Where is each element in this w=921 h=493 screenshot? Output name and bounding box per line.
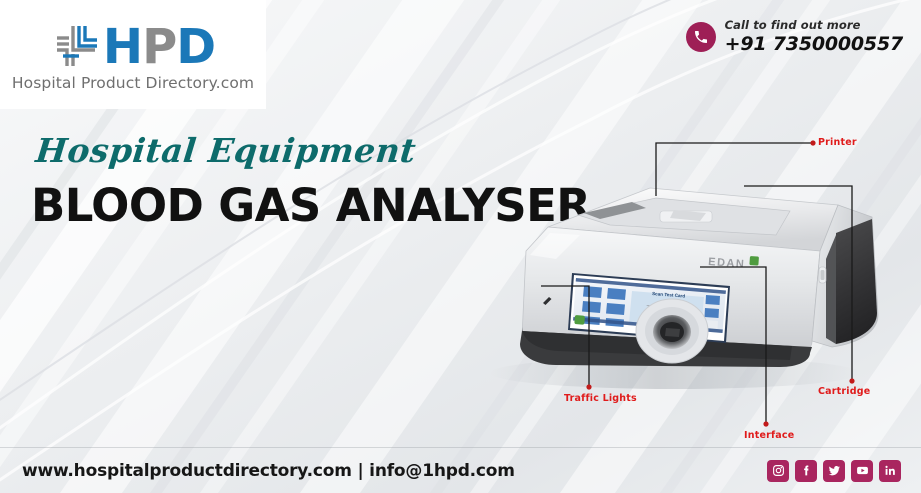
- callout-label-interface: Interface: [744, 430, 794, 441]
- logo-letter-h: H: [103, 19, 142, 75]
- logo-letter-d: D: [176, 19, 215, 75]
- footer-contact-text[interactable]: www.hospitalproductdirectory.com | info@…: [22, 461, 515, 481]
- nested-brackets-logo-icon: [55, 24, 101, 70]
- eyebrow-heading: Hospital Equipment: [34, 131, 418, 170]
- callout-label-traffic-lights: Traffic Lights: [564, 393, 637, 404]
- call-label: Call to find out more: [725, 20, 903, 32]
- promo-banner: HPD Hospital Product Directory.com Call …: [0, 0, 921, 493]
- instagram-icon[interactable]: [767, 460, 789, 482]
- callout-label-printer: Printer: [818, 137, 857, 148]
- logo-tagline: Hospital Product Directory.com: [12, 74, 254, 92]
- logo-letter-p: P: [142, 19, 176, 75]
- phone-number[interactable]: +91 7350000557: [725, 35, 903, 54]
- footer-bar: www.hospitalproductdirectory.com | info@…: [0, 448, 921, 493]
- linkedin-icon[interactable]: [879, 460, 901, 482]
- facebook-icon[interactable]: [795, 460, 817, 482]
- twitter-icon[interactable]: [823, 460, 845, 482]
- callout-label-cartridge: Cartridge: [818, 386, 870, 397]
- youtube-icon[interactable]: [851, 460, 873, 482]
- logo-lockup: HPD: [55, 18, 215, 70]
- social-links: [767, 460, 901, 482]
- blood-gas-analyser-device-image: EDAN Scan Test Card: [460, 155, 890, 405]
- brand-logo-card[interactable]: HPD Hospital Product Directory.com: [0, 0, 266, 109]
- phone-icon: [686, 22, 716, 52]
- contact-block[interactable]: Call to find out more +91 7350000557: [686, 20, 903, 54]
